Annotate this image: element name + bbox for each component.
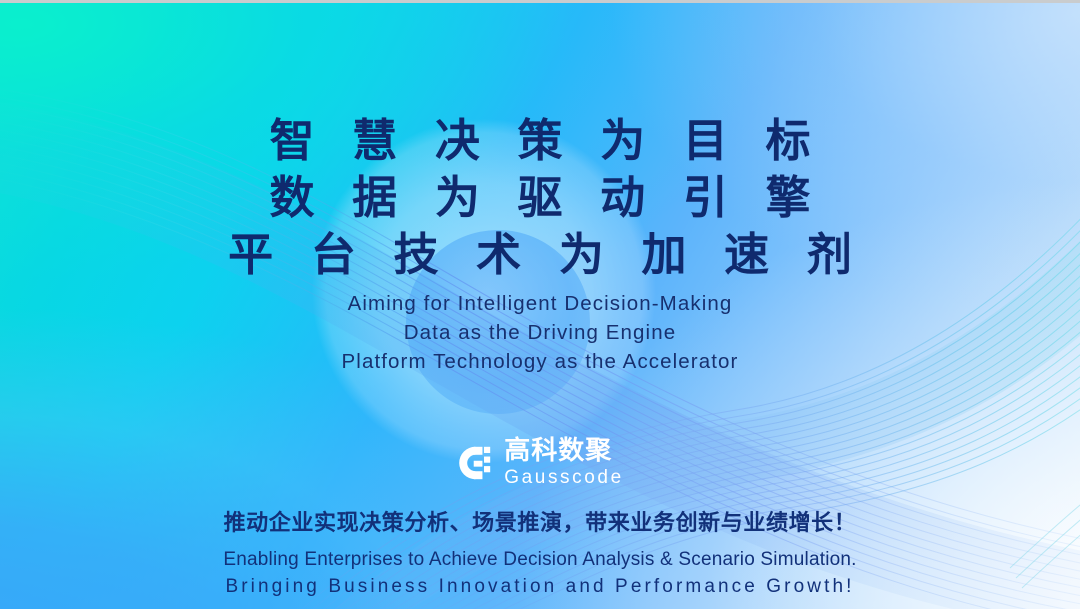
headline-line-1: 智 慧 决 策 为 目 标: [217, 112, 863, 169]
footer-tagline-cn: 推动企业实现决策分析、场景推演，带来业务创新与业绩增长！: [223, 509, 856, 539]
subhead-line-3: Platform Technology as the Accelerator: [342, 347, 739, 376]
poster-canvas: 智 慧 决 策 为 目 标 数 据 为 驱 动 引 擎 平 台 技 术 为 加 …: [0, 0, 1080, 609]
subhead-block: Aiming for Intelligent Decision-Making D…: [342, 289, 739, 376]
headline-line-3: 平 台 技 术 为 加 速 剂: [217, 226, 863, 283]
headline-line-2: 数 据 为 驱 动 引 擎: [217, 169, 863, 226]
footer-tagline-en-line2: Bringing Business Innovation and Perform…: [223, 574, 856, 599]
brand-name-en: Gausscode: [504, 468, 624, 487]
subhead-line-2: Data as the Driving Engine: [342, 318, 739, 347]
brand-name-cn: 高科数聚: [504, 438, 612, 464]
headline-block: 智 慧 决 策 为 目 标 数 据 为 驱 动 引 擎 平 台 技 术 为 加 …: [217, 112, 863, 283]
brand-logo-wordmark: 高科数聚 Gausscode: [504, 438, 624, 487]
subhead-line-1: Aiming for Intelligent Decision-Making: [342, 289, 739, 318]
brand-logo: 高科数聚 Gausscode: [456, 438, 624, 487]
poster-content: 智 慧 决 策 为 目 标 数 据 为 驱 动 引 擎 平 台 技 术 为 加 …: [0, 0, 1080, 609]
footer-block: 推动企业实现决策分析、场景推演，带来业务创新与业绩增长！ Enabling En…: [223, 509, 856, 599]
screenshot-top-edge-strip: [0, 0, 1080, 3]
gausscode-g-logo-icon: [456, 445, 492, 481]
footer-tagline-en-line1: Enabling Enterprises to Achieve Decision…: [223, 547, 856, 572]
